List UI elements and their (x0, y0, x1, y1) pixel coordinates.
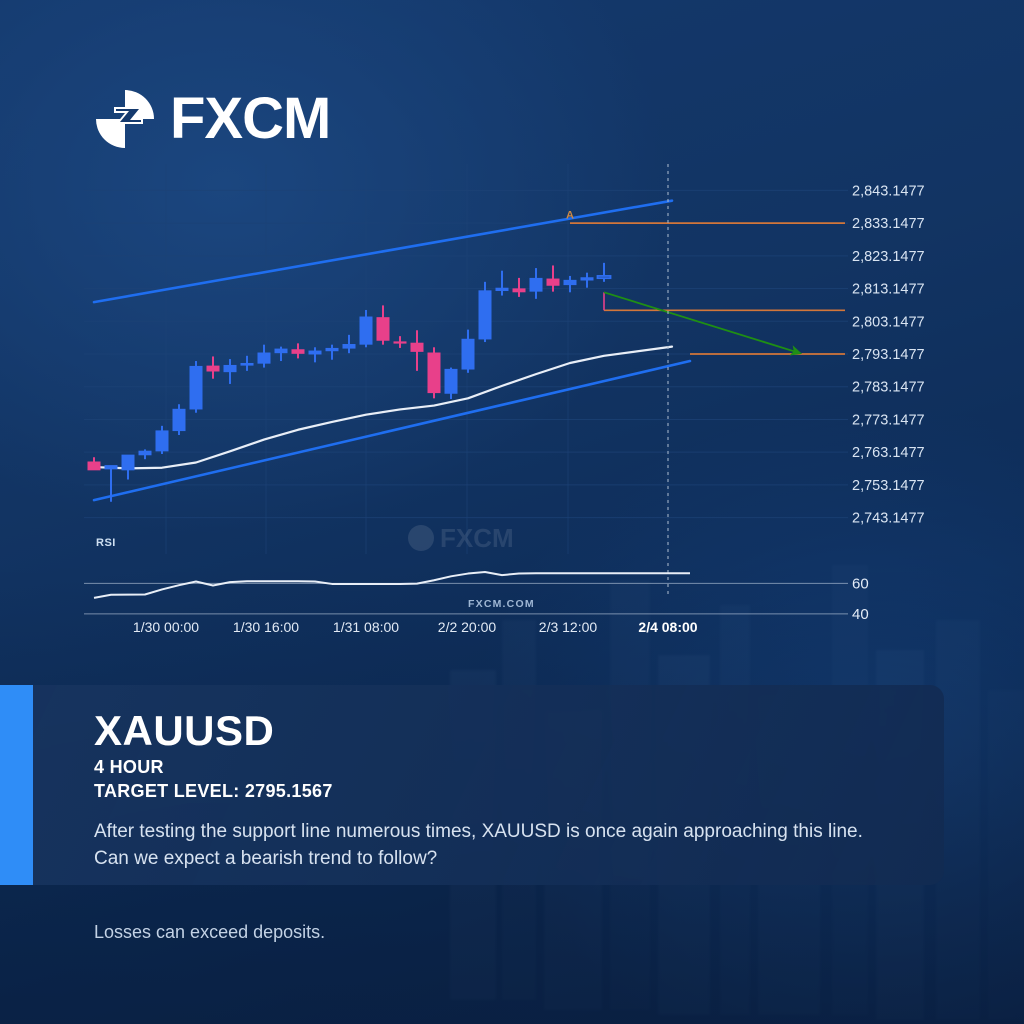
price-tick-label: 2,793.1477 (852, 347, 925, 363)
fxcm-logo: FXCM (94, 88, 330, 150)
target-level-label: TARGET LEVEL: 2795.1567 (94, 781, 904, 802)
level-marker-a: A (566, 209, 574, 221)
price-tick-label: 2,843.1477 (852, 183, 925, 199)
candlestick (581, 273, 594, 288)
risk-disclaimer: Losses can exceed deposits. (94, 922, 325, 943)
candlestick (241, 356, 254, 371)
price-tick-label: 2,763.1477 (852, 445, 925, 461)
candlestick (445, 368, 458, 399)
commentary-text: After testing the support line numerous … (94, 819, 894, 873)
candlestick (360, 310, 373, 347)
candlestick (156, 426, 169, 454)
candlestick (496, 271, 509, 296)
card-accent-bar (0, 685, 33, 885)
timeframe-label: 4 HOUR (94, 757, 904, 778)
time-tick-label: 1/30 00:00 (133, 619, 199, 635)
price-tick-label: 2,823.1477 (852, 249, 925, 265)
candlestick (292, 343, 305, 358)
candlestick (88, 457, 101, 470)
candlestick (343, 335, 356, 353)
candlestick (394, 336, 407, 348)
candlestick (326, 345, 339, 360)
candlestick (462, 330, 475, 373)
trend-channel-lines (94, 201, 690, 500)
moving-average-line (94, 347, 672, 469)
price-tick-label: 2,773.1477 (852, 412, 925, 428)
time-tick-label: 2/3 12:00 (539, 619, 598, 635)
price-tick-label: 2,833.1477 (852, 216, 925, 232)
svg-text:FXCM: FXCM (440, 523, 514, 553)
candlestick (122, 455, 135, 480)
candlestick (513, 278, 526, 297)
time-axis-labels: 1/30 00:001/30 16:001/31 08:002/2 20:002… (133, 619, 698, 635)
candlestick (377, 305, 390, 344)
candlestick (411, 330, 424, 371)
card-content: XAUUSD 4 HOUR TARGET LEVEL: 2795.1567 Af… (94, 709, 904, 873)
candlestick (190, 361, 203, 413)
rsi-tick-label: 40 (852, 606, 869, 623)
candlestick (258, 345, 271, 368)
rsi-axis-labels: 6040 (852, 575, 869, 623)
candlestick (207, 356, 220, 378)
candlestick (547, 265, 560, 291)
candlestick (428, 347, 441, 398)
price-axis-labels: 2,843.14772,833.14772,823.14772,813.1477… (852, 183, 925, 526)
candlestick (479, 282, 492, 342)
price-tick-label: 2,783.1477 (852, 380, 925, 396)
candlestick (530, 268, 543, 299)
time-tick-label: 1/30 16:00 (233, 619, 299, 635)
rsi-label: RSI (96, 537, 116, 549)
rsi-gridlines (84, 583, 848, 614)
candlestick (224, 359, 237, 384)
time-tick-label: 1/31 08:00 (333, 619, 399, 635)
fxcm-z-logo-icon (94, 88, 156, 150)
rsi-tick-label: 60 (852, 575, 869, 592)
candlestick (598, 263, 611, 282)
fxcm-com-watermark: FXCM.COM (468, 598, 535, 610)
symbol-title: XAUUSD (94, 709, 904, 753)
chart-watermark: FXCM (408, 523, 514, 553)
price-chart: 2,843.14772,833.14772,823.14772,813.1477… (0, 160, 1024, 660)
price-tick-label: 2,813.1477 (852, 282, 925, 298)
signal-info-card: XAUUSD 4 HOUR TARGET LEVEL: 2795.1567 Af… (0, 685, 944, 885)
candlestick (309, 347, 322, 362)
rsi-line (94, 572, 690, 598)
candlestick (173, 404, 186, 435)
marker-a-label: A (566, 209, 574, 221)
candlestick (139, 449, 152, 459)
fxcm-wordmark: FXCM (170, 90, 330, 148)
bearish-projection-arrow (604, 292, 800, 353)
time-tick-label: 2/4 08:00 (638, 619, 697, 635)
price-tick-label: 2,753.1477 (852, 478, 925, 494)
candlestick (564, 276, 577, 292)
price-tick-label: 2,743.1477 (852, 511, 925, 527)
time-tick-label: 2/2 20:00 (438, 619, 497, 635)
price-tick-label: 2,803.1477 (852, 314, 925, 330)
